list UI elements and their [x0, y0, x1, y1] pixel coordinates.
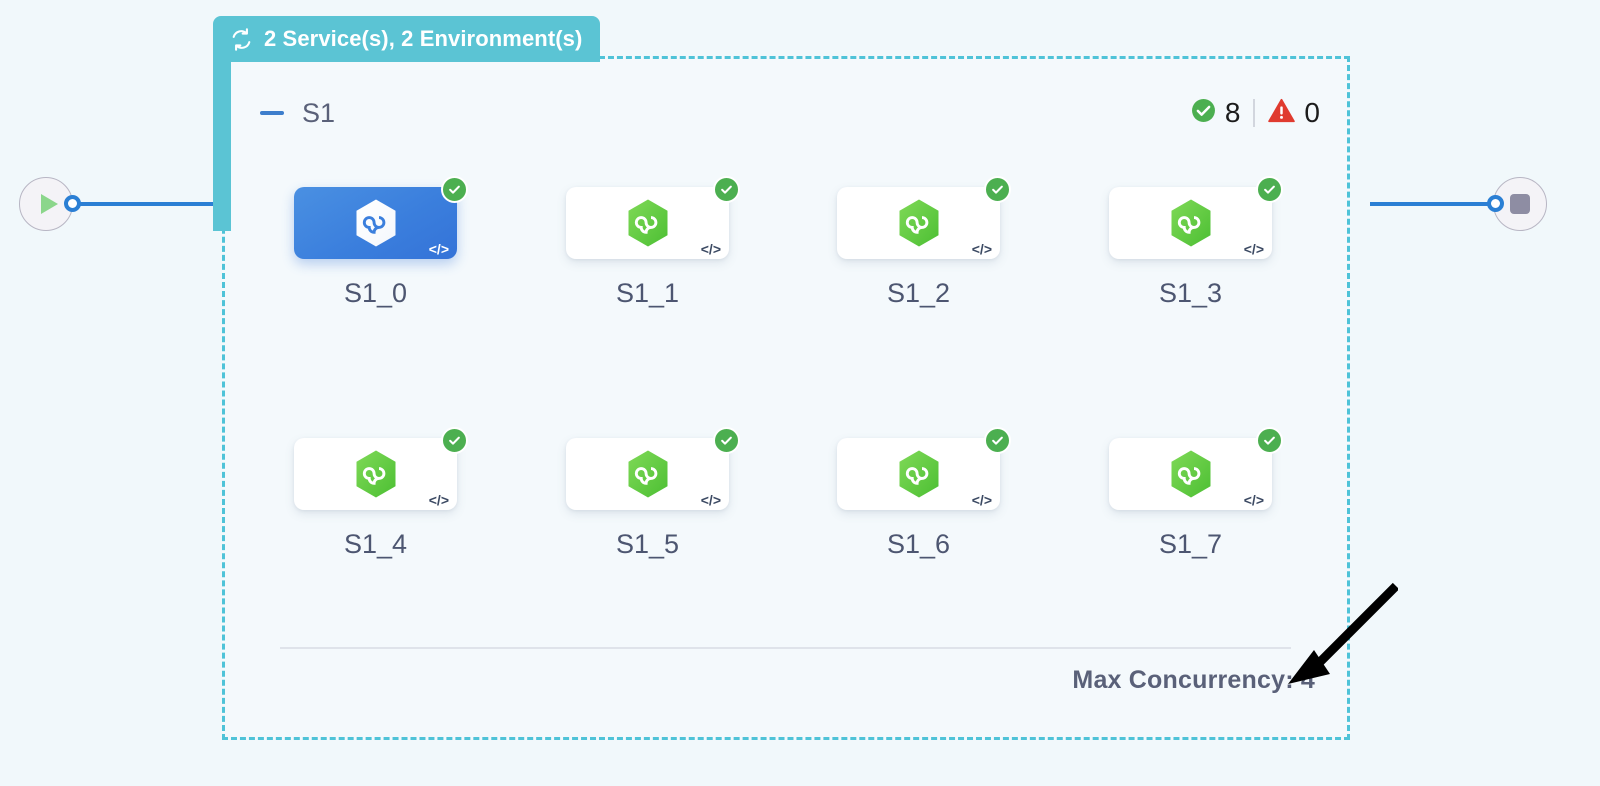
infinity-hexagon-icon	[350, 448, 402, 500]
code-badge-icon: </>	[1244, 242, 1264, 256]
check-circle-icon	[984, 427, 1011, 454]
service-node[interactable]: </> S1_3	[1109, 187, 1272, 309]
service-node[interactable]: </> S1_1	[566, 187, 729, 309]
service-node[interactable]: </> S1_5	[566, 438, 729, 560]
check-circle-icon	[984, 176, 1011, 203]
service-node-label: S1_7	[1109, 529, 1272, 560]
infinity-hexagon-icon	[893, 197, 945, 249]
group-header-left: S1	[260, 98, 335, 129]
max-concurrency-label: Max Concurrency: 4	[1072, 666, 1315, 695]
service-node-card[interactable]: </>	[837, 187, 1000, 259]
play-icon	[41, 194, 58, 214]
stop-icon	[1510, 194, 1530, 214]
code-badge-icon: </>	[1244, 493, 1264, 507]
code-badge-icon: </>	[701, 493, 721, 507]
check-circle-icon	[1256, 427, 1283, 454]
service-node[interactable]: </> S1_4	[294, 438, 457, 560]
infinity-hexagon-icon	[622, 448, 674, 500]
service-node-card[interactable]: </>	[294, 187, 457, 259]
service-node-label: S1_5	[566, 529, 729, 560]
check-circle-icon	[1191, 98, 1216, 128]
infinity-hexagon-icon	[1165, 448, 1217, 500]
service-node-card[interactable]: </>	[566, 187, 729, 259]
check-circle-icon	[1256, 176, 1283, 203]
service-node-label: S1_4	[294, 529, 457, 560]
connection-port-icon[interactable]	[1487, 195, 1504, 212]
success-count: 8	[1225, 97, 1241, 129]
connection-port-icon[interactable]	[64, 195, 81, 212]
code-badge-icon: </>	[972, 242, 992, 256]
success-stat: 8	[1191, 97, 1241, 129]
service-node-card[interactable]: </>	[1109, 187, 1272, 259]
service-node[interactable]: </> S1_0	[294, 187, 457, 309]
service-node-label: S1_0	[294, 278, 457, 309]
group-badge-label: 2 Service(s), 2 Environment(s)	[264, 26, 582, 52]
loop-repeat-icon	[229, 27, 254, 52]
service-node-card[interactable]: </>	[294, 438, 457, 510]
group-status-summary: 8 0	[1191, 97, 1320, 129]
service-node-card[interactable]: </>	[837, 438, 1000, 510]
service-node-label: S1_6	[837, 529, 1000, 560]
code-badge-icon: </>	[429, 493, 449, 507]
group-header: S1 8	[260, 90, 1320, 136]
infinity-hexagon-icon	[350, 197, 402, 249]
check-circle-icon	[441, 176, 468, 203]
group-accent-rail	[213, 56, 231, 231]
stat-divider	[1253, 99, 1255, 127]
infinity-hexagon-icon	[893, 448, 945, 500]
footer-divider	[280, 647, 1291, 649]
workflow-canvas: 2 Service(s), 2 Environment(s) S1 8	[0, 0, 1600, 786]
service-node[interactable]: </> S1_7	[1109, 438, 1272, 560]
service-node-card[interactable]: </>	[1109, 438, 1272, 510]
group-badge[interactable]: 2 Service(s), 2 Environment(s)	[213, 16, 600, 62]
collapse-dash-icon[interactable]	[260, 111, 284, 115]
code-badge-icon: </>	[429, 242, 449, 256]
check-circle-icon	[713, 427, 740, 454]
check-circle-icon	[441, 427, 468, 454]
service-node[interactable]: </> S1_2	[837, 187, 1000, 309]
infinity-hexagon-icon	[622, 197, 674, 249]
service-node[interactable]: </> S1_6	[837, 438, 1000, 560]
service-node-label: S1_1	[566, 278, 729, 309]
service-node-card[interactable]: </>	[566, 438, 729, 510]
code-badge-icon: </>	[701, 242, 721, 256]
infinity-hexagon-icon	[1165, 197, 1217, 249]
error-count: 0	[1304, 97, 1320, 129]
code-badge-icon: </>	[972, 493, 992, 507]
service-node-label: S1_3	[1109, 278, 1272, 309]
edge-start-to-group	[70, 202, 230, 206]
service-group-container[interactable]	[222, 56, 1350, 740]
warning-triangle-icon	[1268, 98, 1295, 128]
service-node-label: S1_2	[837, 278, 1000, 309]
error-stat: 0	[1268, 97, 1320, 129]
check-circle-icon	[713, 176, 740, 203]
group-title: S1	[302, 98, 335, 129]
